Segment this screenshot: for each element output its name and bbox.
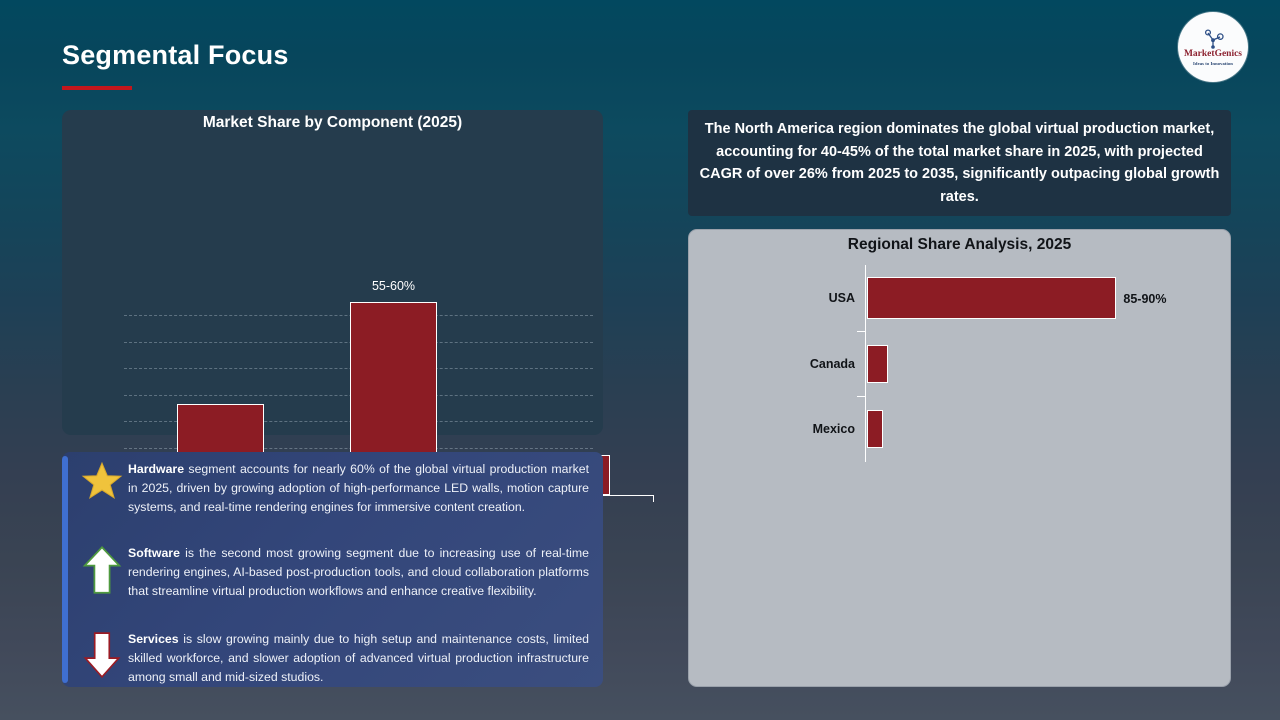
region-label-usa: USA bbox=[733, 291, 855, 305]
segment-note-lead: Services bbox=[128, 632, 179, 646]
segment-note-text-services: Services is slow growing mainly due to h… bbox=[128, 630, 593, 687]
segment-notes-accent-bar bbox=[62, 456, 68, 683]
x-axis-tick bbox=[653, 495, 654, 502]
list-item: Services is slow growing mainly due to h… bbox=[76, 630, 593, 687]
title-underline-accent bbox=[62, 86, 132, 90]
list-item: Software is the second most growing segm… bbox=[76, 544, 593, 601]
molecule-icon bbox=[1200, 29, 1226, 49]
list-item: Hardware segment accounts for nearly 60%… bbox=[76, 460, 593, 517]
segment-note-body: segment accounts for nearly 60% of the g… bbox=[128, 462, 589, 514]
bar-mexico bbox=[867, 410, 883, 448]
logo-tagline-text: Ideas to Innovation bbox=[1193, 61, 1233, 66]
bar-usa bbox=[867, 277, 1116, 319]
y-axis-tick bbox=[857, 396, 865, 397]
bar-canada bbox=[867, 345, 888, 383]
segment-note-text-hardware: Hardware segment accounts for nearly 60%… bbox=[128, 460, 593, 517]
logo-marketgenics: MarketGenics Ideas to Innovation bbox=[1178, 12, 1248, 82]
segment-note-text-software: Software is the second most growing segm… bbox=[128, 544, 593, 601]
star-icon bbox=[76, 460, 128, 502]
segment-note-body: is slow growing mainly due to high setup… bbox=[128, 632, 589, 684]
segment-note-lead: Software bbox=[128, 546, 180, 560]
logo-brand-text: MarketGenics bbox=[1184, 50, 1242, 60]
market-share-by-component-chart: Market Share by Component (2025) Softwar… bbox=[62, 110, 603, 435]
segment-notes-panel: Hardware segment accounts for nearly 60%… bbox=[62, 452, 603, 687]
region-chart-axis bbox=[865, 265, 866, 462]
region-label-canada: Canada bbox=[733, 357, 855, 371]
north-america-callout-text: The North America region dominates the g… bbox=[696, 118, 1223, 208]
regional-share-analysis-chart: Regional Share Analysis, 2025 Key Techno… bbox=[688, 229, 1231, 687]
region-label-mexico: Mexico bbox=[733, 422, 855, 436]
component-chart-plot-area bbox=[72, 155, 593, 387]
region-chart-title: Regional Share Analysis, 2025 bbox=[689, 230, 1230, 254]
arrow-down-icon bbox=[76, 630, 128, 680]
bar-value-hardware: 55-60% bbox=[334, 279, 454, 293]
bar-value-usa: 85-90% bbox=[1123, 292, 1166, 306]
segment-note-body: is the second most growing segment due t… bbox=[128, 546, 589, 598]
north-america-callout: The North America region dominates the g… bbox=[688, 110, 1231, 216]
component-chart-title: Market Share by Component (2025) bbox=[62, 110, 603, 132]
y-axis-tick bbox=[857, 331, 865, 332]
segment-note-lead: Hardware bbox=[128, 462, 184, 476]
arrow-up-icon bbox=[76, 544, 128, 596]
page-title: Segmental Focus bbox=[62, 40, 289, 71]
